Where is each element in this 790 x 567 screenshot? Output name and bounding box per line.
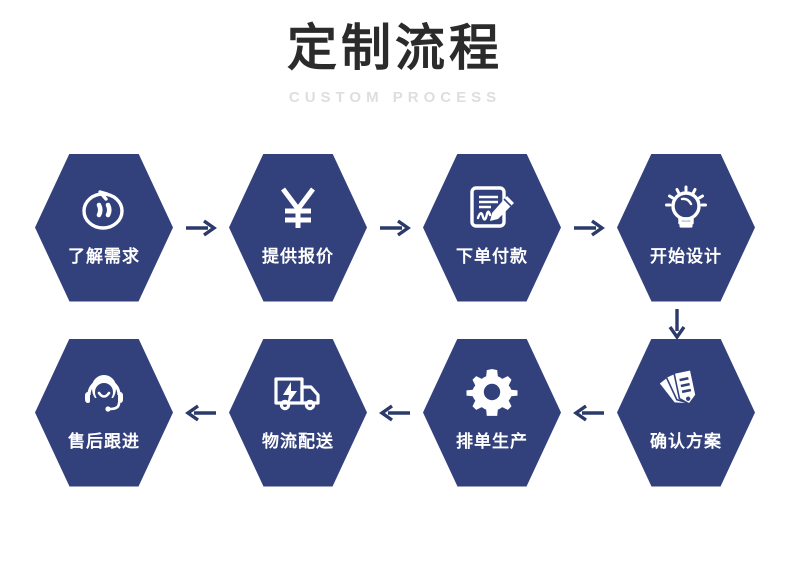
arrow-right-icon xyxy=(367,218,423,238)
yen-currency-icon xyxy=(268,178,328,236)
process-row-bottom: 售后跟进 物流配送 xyxy=(0,335,790,490)
process-step-label: 排单生产 xyxy=(456,427,528,452)
contract-signing-icon xyxy=(462,178,522,236)
page-header: 定制流程 CUSTOM PROCESS xyxy=(0,0,790,106)
arrow-left-icon xyxy=(367,403,423,423)
headset-support-icon xyxy=(74,363,134,421)
arrow-right-icon xyxy=(173,218,229,238)
process-step-start-design[interactable]: 开始设计 xyxy=(617,154,755,302)
process-step-after-sales-followup[interactable]: 售后跟进 xyxy=(35,339,173,487)
process-step-label: 物流配送 xyxy=(262,427,334,452)
tags-icon xyxy=(656,363,716,421)
delivery-truck-icon xyxy=(268,363,328,421)
process-step-logistics-delivery[interactable]: 物流配送 xyxy=(229,339,367,487)
process-flow: 了解需求 提供报价 xyxy=(0,150,790,490)
gear-icon xyxy=(462,363,522,421)
page-subtitle: CUSTOM PROCESS xyxy=(0,89,790,106)
arrow-left-icon xyxy=(173,403,229,423)
arrow-right-icon xyxy=(561,218,617,238)
process-step-label: 确认方案 xyxy=(650,427,722,452)
process-step-understand-requirements[interactable]: 了解需求 xyxy=(35,154,173,302)
process-step-label: 下单付款 xyxy=(456,242,528,267)
arrow-left-icon xyxy=(561,403,617,423)
process-step-label: 售后跟进 xyxy=(68,427,140,452)
speech-bubble-icon xyxy=(74,178,134,236)
process-step-place-order-pay[interactable]: 下单付款 xyxy=(423,154,561,302)
process-step-label: 开始设计 xyxy=(650,242,722,267)
page-title: 定制流程 xyxy=(0,22,790,75)
process-step-label: 了解需求 xyxy=(68,242,140,267)
process-row-top: 了解需求 提供报价 xyxy=(0,150,790,305)
process-step-provide-quote[interactable]: 提供报价 xyxy=(229,154,367,302)
lightbulb-icon xyxy=(656,178,716,236)
process-step-production-scheduling[interactable]: 排单生产 xyxy=(423,339,561,487)
process-step-label: 提供报价 xyxy=(262,242,334,267)
process-step-confirm-plan[interactable]: 确认方案 xyxy=(617,339,755,487)
